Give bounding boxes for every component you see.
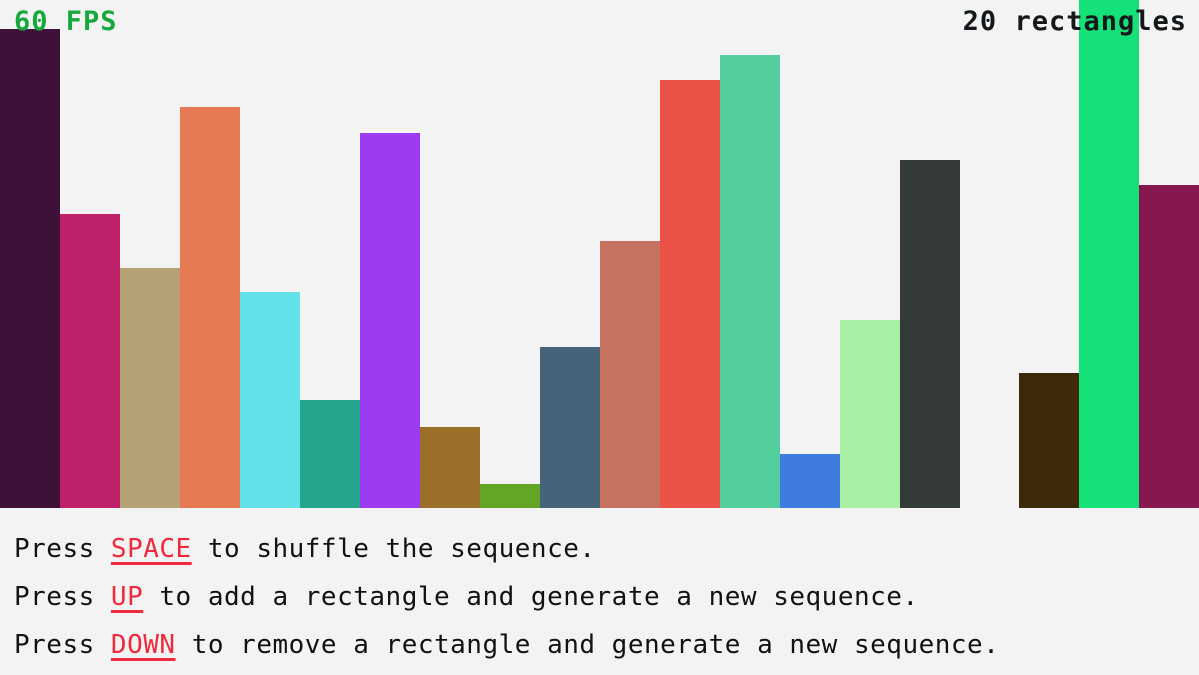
bar-rectangle [420,427,480,508]
rectangle-canvas[interactable] [0,0,1199,509]
instruction-prefix: Press [14,630,111,660]
bar-rectangle [300,400,360,508]
bar-rectangle [720,55,780,508]
bar-rectangle [600,241,660,508]
bar-rectangle [1079,0,1139,508]
app-root: 60 FPS 20 rectangles Press SPACE to shuf… [0,0,1199,675]
instruction-prefix: Press [14,534,111,564]
instruction-line: Press SPACE to shuffle the sequence. [14,525,1199,573]
instruction-line: Press DOWN to remove a rectangle and gen… [14,621,1199,669]
bar-rectangle [240,292,300,508]
key-binding-up[interactable]: UP [111,582,143,612]
key-binding-down[interactable]: DOWN [111,630,176,660]
bar-rectangle [60,214,120,508]
instruction-line: Press UP to add a rectangle and generate… [14,573,1199,621]
bar-rectangle [780,454,840,508]
bar-rectangle [1139,185,1199,508]
bar-rectangle [120,268,180,508]
bar-rectangle [840,320,900,508]
bar-rectangle [660,80,720,508]
bar-rectangle [1019,373,1079,508]
instructions-panel: Press SPACE to shuffle the sequence.Pres… [0,509,1199,675]
instruction-suffix: to add a rectangle and generate a new se… [143,582,918,612]
instruction-suffix: to remove a rectangle and generate a new… [176,630,1000,660]
bar-rectangle [540,347,600,508]
bar-rectangle [180,107,240,508]
key-binding-space[interactable]: SPACE [111,534,192,564]
instruction-suffix: to shuffle the sequence. [192,534,596,564]
bar-rectangle [900,160,960,508]
instruction-prefix: Press [14,582,111,612]
bar-rectangle [360,133,420,508]
bar-rectangle [480,484,540,508]
bar-rectangle [0,29,60,508]
